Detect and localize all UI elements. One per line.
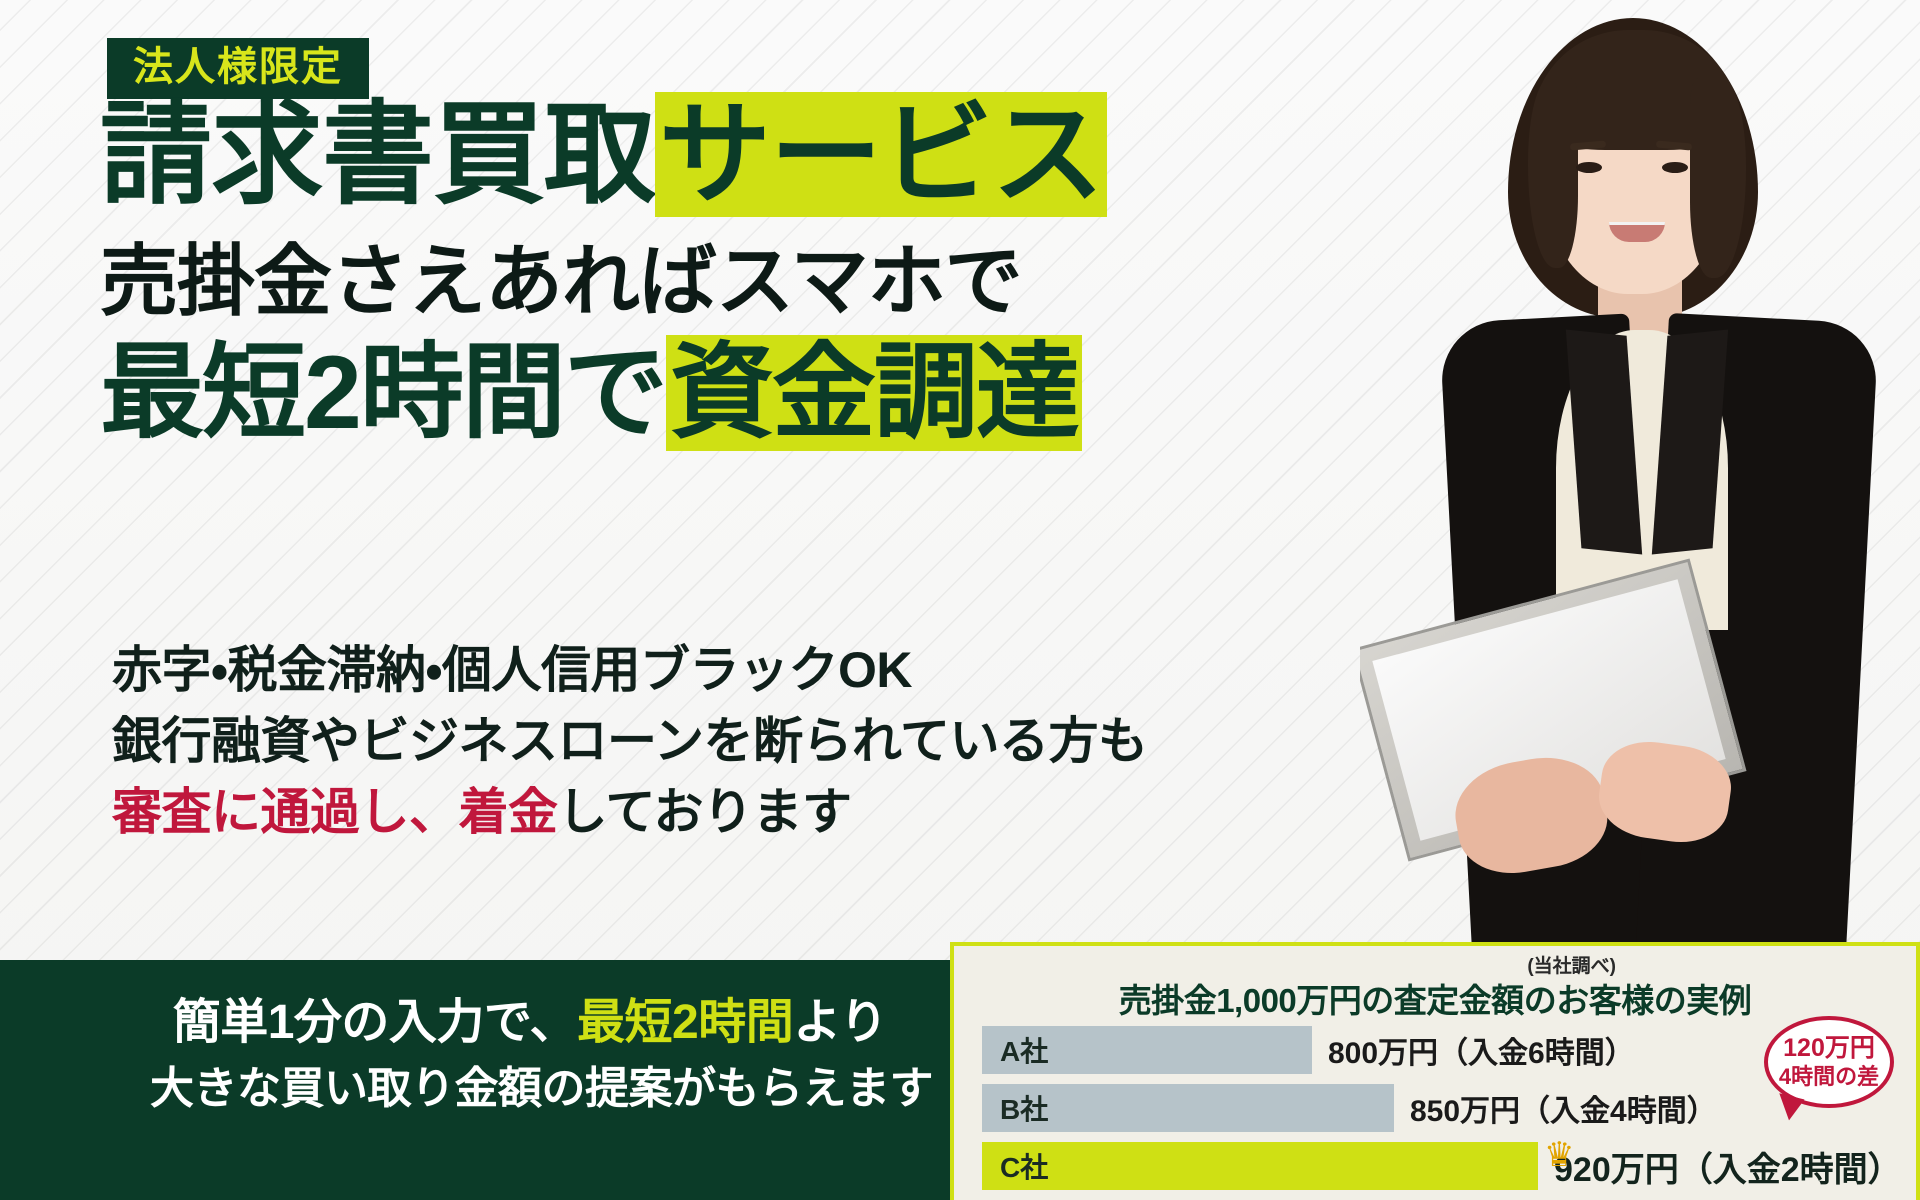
row-amount-value: 850万円（入金4時間） — [1410, 1086, 1717, 1130]
band-text-block: 簡単1分の入力で、最短2時間より 大きな買い取り金額の提案がもらえます — [150, 992, 910, 1118]
table-row: B社 850万円（入金4時間） — [982, 1084, 1717, 1132]
headline-line-1-plain: 請求書買取 — [100, 92, 655, 217]
headline-line-3-highlight: 資金調達 — [666, 335, 1082, 451]
example-results-card: (当社調べ) 売掛金1,000万円の査定金額のお客様の実例 A社 800万円（入… — [950, 942, 1920, 1200]
bubble-line-2: 4時間の差 — [1779, 1064, 1879, 1090]
table-row: A社 800万円（入金6時間） — [982, 1026, 1635, 1074]
band-line-1-prefix: 簡単1分の入力で、 — [173, 996, 577, 1049]
band-line-1-suffix: より — [793, 996, 887, 1049]
difference-callout-bubble: 120万円 4時間の差 — [1764, 1016, 1894, 1108]
row-amount-value: 800万円（入金6時間） — [1328, 1028, 1635, 1072]
band-line-2: 大きな買い取り金額の提案がもらえます — [150, 1060, 910, 1117]
copy-line-2: 銀行融資やビジネスローンを断られている方も — [112, 706, 1148, 777]
headline-line-1: 請求書買取サービス — [100, 95, 1107, 216]
corporate-only-badge: 法人様限定 — [107, 38, 369, 99]
copy-line-3-black: しております — [558, 784, 852, 840]
row-company-label: C社 — [982, 1142, 1538, 1190]
row-amount-value: 920万円（入金2時間） — [1554, 1142, 1902, 1191]
band-line-1: 簡単1分の入力で、最短2時間より — [150, 992, 910, 1054]
headline-line-3: 最短2時間で資金調達 — [100, 337, 1107, 449]
band-line-1-accent: 最短2時間 — [577, 996, 793, 1049]
headline-line-2: 売掛金さえあればスマホで — [100, 238, 1107, 325]
copy-line-3: 審査に通過し、着金しております — [112, 777, 1148, 848]
row-company-label: B社 — [982, 1084, 1394, 1132]
headline-line-1-highlight: サービス — [655, 92, 1107, 217]
benefits-copy-block: 赤字・税金滞納・個人信用ブラックOK 銀行融資やビジネスローンを断られている方も… — [112, 635, 1148, 848]
table-row: C社 920万円（入金2時間） — [982, 1142, 1902, 1190]
badge-label: 法人様限定 — [133, 45, 343, 89]
bubble-line-1: 120万円 — [1783, 1034, 1875, 1064]
crown-icon: ♛ — [1544, 1138, 1574, 1172]
copy-line-3-red: 審査に通過し、着金 — [112, 784, 558, 840]
headline-block: 請求書買取サービス 売掛金さえあればスマホで 最短2時間で資金調達 — [100, 95, 1107, 450]
headline-line-3-plain: 最短2時間で — [100, 335, 666, 451]
card-title: 売掛金1,000万円の査定金額のお客様の実例 — [954, 974, 1916, 1022]
row-company-label: A社 — [982, 1026, 1312, 1074]
copy-line-1: 赤字・税金滞納・個人信用ブラックOK — [112, 635, 1148, 706]
